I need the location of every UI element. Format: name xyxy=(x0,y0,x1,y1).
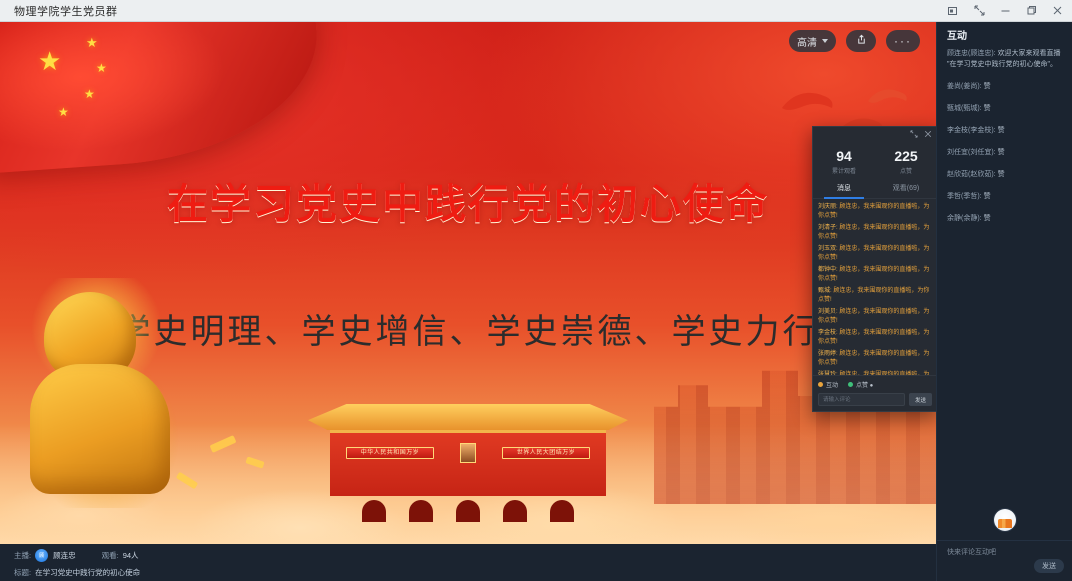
viewers-label: 观看: xyxy=(102,550,119,561)
list-item: 顾连忠(顾连忠): 欢迎大家来观看直播 "在学习党史中践行党的初心使命"。 xyxy=(947,48,1062,70)
status-row-host: 主播: 顾 顾连忠 观看: 94人 xyxy=(14,549,936,562)
lion-body xyxy=(30,364,170,494)
slide-title: 在学习党史中践行党的初心使命 xyxy=(0,170,936,230)
quality-selector[interactable]: 高清 xyxy=(789,30,836,52)
message-author: 刘玉双 xyxy=(818,246,836,252)
floating-panel-message-list[interactable]: 刘庆丽: 顾连忠，我来围观你的直播啦，为你点赞! 刘清子: 顾连忠，我来围观你的… xyxy=(813,199,936,375)
screenshot-icon[interactable] xyxy=(940,0,966,21)
message-text: 赞 xyxy=(998,127,1005,134)
message-text: 赞 xyxy=(984,83,991,90)
restore-down-icon[interactable] xyxy=(966,0,992,21)
status-row-title: 标题: 在学习党史中践行党的初心使命 xyxy=(14,567,936,578)
close-icon[interactable] xyxy=(1044,0,1070,21)
stat-label: 累计观看 xyxy=(813,166,875,175)
window-title: 物理学院学生党员群 xyxy=(14,3,118,19)
floating-panel-input-row: 发送 xyxy=(818,393,932,406)
tiananmen-gate-decoration: 中华人民共和国万岁 世界人民大团结万岁 xyxy=(288,404,648,524)
list-item: 李金枝(李金枝): 赞 xyxy=(947,125,1062,136)
message-author: 姜尚(姜尚): xyxy=(947,83,982,90)
list-item: 张雨婷: 顾连忠，我来围观你的直播啦，为你点赞! xyxy=(818,350,932,367)
message-author: 刘庆丽 xyxy=(818,204,836,210)
collapse-icon[interactable] xyxy=(910,126,918,142)
star-icon: ★ xyxy=(84,88,95,100)
avatar-graphic xyxy=(998,519,1012,528)
message-author: 季哲(季哲): xyxy=(947,193,982,200)
orange-dot-icon xyxy=(818,382,823,387)
message-author: 甄城 xyxy=(818,288,830,294)
list-item: 刘美贝: 顾连忠，我来围观你的直播啦，为你点赞! xyxy=(818,308,932,325)
list-item: 姜尚(姜尚): 赞 xyxy=(947,81,1062,92)
more-icon: ··· xyxy=(894,35,912,47)
message-author: 甄城(甄城): xyxy=(947,105,982,112)
viewers-count: 94人 xyxy=(123,550,139,561)
list-item: 甄城(甄城): 赞 xyxy=(947,103,1062,114)
flag-decoration xyxy=(0,22,325,174)
message-text: 赞 xyxy=(984,105,991,112)
gate-roof xyxy=(308,404,628,430)
stat-label: 点赞 xyxy=(875,166,936,175)
message-author: 刘清子 xyxy=(818,225,836,231)
live-stream-window: 物理学院学生党员群 ★ ★ ★ ★ xyxy=(0,0,1072,581)
floating-panel-footer: 互动 点赞 ● 发送 xyxy=(813,375,936,411)
message-author: 刘美贝 xyxy=(818,309,836,315)
interaction-sidebar: 互动 顾连忠(顾连忠): 欢迎大家来观看直播 "在学习党史中践行党的初心使命"。… xyxy=(936,22,1072,581)
chip-likes[interactable]: 点赞 ● xyxy=(848,380,873,389)
message-author: 刘任宜(刘任宜): xyxy=(947,149,996,156)
player-toolbar: 高清 ··· xyxy=(789,30,920,52)
list-item: 刘玉双: 顾连忠，我来围观你的直播啦，为你点赞! xyxy=(818,245,932,262)
list-item: 余静(余静): 赞 xyxy=(947,213,1062,224)
sidebar-avatar-area xyxy=(937,500,1072,540)
star-icon: ★ xyxy=(96,62,107,74)
chip-label: 互动 xyxy=(826,380,838,389)
message-author: 都钟中 xyxy=(818,267,836,273)
stream-title-label: 标题: xyxy=(14,567,31,578)
host-label: 主播: xyxy=(14,550,31,561)
message-author: 顾连忠(顾连忠): xyxy=(947,50,996,57)
portrait-icon xyxy=(460,443,476,463)
comment-input-placeholder[interactable]: 快来评论互动吧 xyxy=(947,547,1064,557)
list-item: 刘清子: 顾连忠，我来围观你的直播啦，为你点赞! xyxy=(818,224,932,241)
stream-status-bar: 主播: 顾 顾连忠 观看: 94人 标题: 在学习党史中践行党的初心使命 xyxy=(0,544,936,581)
floating-panel-chips: 互动 点赞 ● xyxy=(818,380,932,389)
message-text: 赞 xyxy=(998,171,1005,178)
stat-value: 225 xyxy=(875,148,936,164)
stream-title-value: 在学习党史中践行党的初心使命 xyxy=(35,567,140,578)
stone-lion-decoration xyxy=(20,278,190,508)
list-item: 刘庆丽: 顾连忠，我来围观你的直播啦，为你点赞! xyxy=(818,203,932,220)
gate-body: 中华人民共和国万岁 世界人民大团结万岁 xyxy=(330,430,606,496)
stat-total-viewers: 94 累计观看 xyxy=(813,148,875,175)
banner-right: 世界人民大团结万岁 xyxy=(502,447,590,459)
list-item: 李金枝: 顾连忠，我来围观你的直播啦，为你点赞! xyxy=(818,329,932,346)
message-text: 赞 xyxy=(984,215,991,222)
host-avatar[interactable]: 顾 xyxy=(35,549,48,562)
message-author: 李金枝(李金枝): xyxy=(947,127,996,134)
banner-left: 中华人民共和国万岁 xyxy=(346,447,434,459)
share-button[interactable] xyxy=(846,30,876,52)
sidebar-message-list[interactable]: 顾连忠(顾连忠): 欢迎大家来观看直播 "在学习党史中践行党的初心使命"。 姜尚… xyxy=(937,46,1072,500)
send-button[interactable]: 发送 xyxy=(1034,559,1064,573)
gate-arches xyxy=(350,498,586,522)
share-icon xyxy=(856,34,867,48)
star-icon: ★ xyxy=(86,36,98,49)
green-dot-icon xyxy=(848,382,853,387)
list-item: 甄城: 顾连忠，我来围观你的直播啦，为你点赞! xyxy=(818,287,932,304)
stat-likes: 225 点赞 xyxy=(875,148,936,175)
tab-messages[interactable]: 消息 xyxy=(813,181,875,198)
video-stage[interactable]: ★ ★ ★ ★ ★ 在学习党史中践行党的初心使命 学史明理、学史增信、学史崇德、… xyxy=(0,22,936,544)
list-item: 赵欣茹(赵欣茹): 赞 xyxy=(947,169,1062,180)
more-options-button[interactable]: ··· xyxy=(886,30,920,52)
floating-panel-stats: 94 累计观看 225 点赞 xyxy=(813,141,936,181)
message-text: 赞 xyxy=(984,193,991,200)
window-titlebar: 物理学院学生党员群 xyxy=(0,0,1072,22)
send-button[interactable]: 发送 xyxy=(909,393,932,406)
maximize-icon[interactable] xyxy=(1018,0,1044,21)
close-icon[interactable] xyxy=(924,126,932,142)
message-author: 李金枝 xyxy=(818,330,836,336)
chip-interaction[interactable]: 互动 xyxy=(818,380,838,389)
list-item: 都钟中: 顾连忠，我来围观你的直播啦，为你点赞! xyxy=(818,266,932,283)
chevron-down-icon xyxy=(822,39,828,43)
list-item: 刘任宜(刘任宜): 赞 xyxy=(947,147,1062,158)
star-icon: ★ xyxy=(58,106,69,118)
list-item: 季哲(季哲): 赞 xyxy=(947,191,1062,202)
host-name: 顾连忠 xyxy=(53,550,76,561)
window-controls xyxy=(940,0,1070,21)
message-text: 赞 xyxy=(998,149,1005,156)
comment-input[interactable] xyxy=(818,393,905,406)
presentation-slide: ★ ★ ★ ★ ★ 在学习党史中践行党的初心使命 学史明理、学史增信、学史崇德、… xyxy=(0,22,936,544)
avatar[interactable] xyxy=(994,509,1016,531)
sidebar-header: 互动 xyxy=(937,22,1072,46)
floating-panel-titlebar xyxy=(813,127,936,141)
floating-panel-tabs: 消息 观看(69) xyxy=(813,181,936,199)
sidebar-composer[interactable]: 快来评论互动吧 发送 xyxy=(937,540,1072,581)
chip-label: 点赞 ● xyxy=(856,380,873,389)
message-author: 张雨婷 xyxy=(818,351,836,357)
star-icon: ★ xyxy=(38,48,61,74)
tab-viewers[interactable]: 观看(69) xyxy=(875,181,936,198)
minimize-icon[interactable] xyxy=(992,0,1018,21)
floating-comment-panel[interactable]: 94 累计观看 225 点赞 消息 观看(69) 刘庆丽: 顾连忠，我来围观你的… xyxy=(812,126,936,412)
stat-value: 94 xyxy=(813,148,875,164)
quality-label: 高清 xyxy=(797,34,817,49)
message-text: 顾连忠，我来围观你的直播啦，为你点赞! xyxy=(818,288,929,303)
message-author: 赵欣茹(赵欣茹): xyxy=(947,171,996,178)
message-author: 余静(余静): xyxy=(947,215,982,222)
